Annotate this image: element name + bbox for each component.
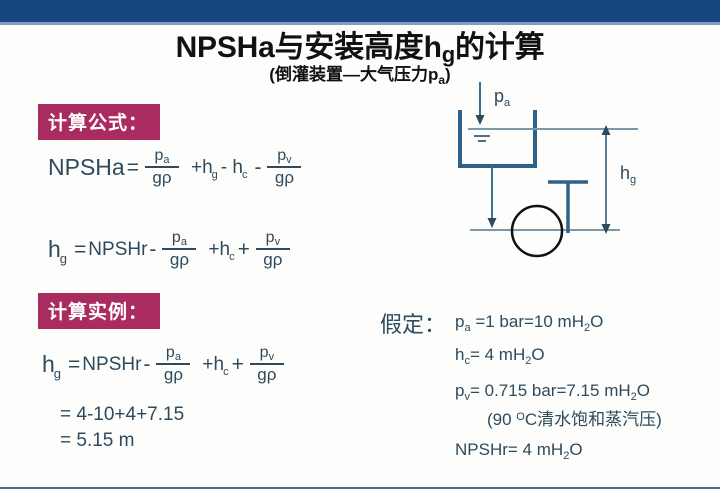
assumption-pa-tail: O: [590, 312, 603, 331]
assumption-pv-note: (90 OC清水饱和蒸汽压): [487, 405, 662, 430]
fraction-pv-over-grho: pv gρ: [250, 345, 284, 384]
term-plus-subscript: c: [229, 251, 235, 263]
fraction-denominator: gρ: [146, 168, 177, 187]
section-banner-example: 计算实例：: [38, 293, 160, 329]
numerator-subscript: a: [181, 236, 187, 248]
assumption-npshr-water-subscript: 2: [563, 450, 569, 462]
assumption-pv: pv= 0.715 bar=7.15 mH2O: [455, 381, 650, 401]
fraction-pa-over-grho: pa gρ: [162, 230, 196, 269]
term-minus-subscript: c: [242, 169, 248, 181]
assumption-pv-water-subscript: 2: [631, 391, 637, 403]
numerator-subscript: a: [175, 351, 181, 363]
term-plus-h: +h: [202, 354, 224, 375]
assumption-pv-value: = 0.715 bar=7.15 mH: [470, 381, 631, 400]
numerator-subscript: v: [275, 236, 281, 248]
formula-hg-lhs-subscript: g: [60, 251, 67, 266]
formula-npsha-minus-op: -: [252, 157, 263, 178]
diagram-label-pa-symbol: p: [494, 86, 504, 106]
numerator-symbol: p: [260, 344, 269, 361]
assumption-hc-water-subscript: 2: [525, 355, 531, 367]
discharge-pipe: [548, 182, 588, 233]
formula-npsha-lhs: NPSHa: [48, 156, 125, 179]
assumption-pv-subscript: v: [464, 391, 470, 403]
numerator-symbol: p: [277, 147, 286, 164]
fraction-pa-over-grho: pa gρ: [145, 148, 179, 187]
assumption-npshr-tail: O: [569, 440, 582, 459]
formula-hg-lhs: hg: [48, 238, 68, 261]
fraction-numerator: pv: [271, 148, 297, 166]
fraction-denominator: gρ: [257, 250, 288, 269]
formula-npsha-minus-hc: - hc: [221, 158, 249, 177]
assumption-pa-water-subscript: 2: [584, 322, 590, 334]
top-decorative-band: [0, 0, 720, 22]
diagram-label-pa: pa: [494, 86, 510, 107]
fraction-numerator: pv: [254, 345, 280, 363]
assumption-pa-value: =1 bar=10 mH: [471, 312, 584, 331]
formula-hg-lhs-symbol: h: [48, 236, 61, 262]
assumption-pv-tail: O: [637, 381, 650, 400]
formula-npsha-equals: =: [125, 157, 141, 178]
fraction-denominator: gρ: [158, 365, 189, 384]
term-plus-subscript: c: [223, 366, 229, 378]
assumption-hc: hc= 4 mH2O: [455, 345, 545, 365]
formula-hg-example-equals: =: [66, 354, 82, 375]
fraction-denominator: gρ: [164, 250, 195, 269]
numerator-symbol: p: [172, 229, 181, 246]
assumption-pa: pa =1 bar=10 mH2O: [455, 312, 603, 332]
bottom-rule-line: [0, 487, 720, 489]
hg-dimension-line: [602, 125, 611, 234]
assumption-pv-note-text: C清水饱和蒸汽压): [525, 410, 662, 429]
diagram-label-pa-subscript: a: [504, 97, 510, 109]
fraction-denominator: gρ: [269, 168, 300, 187]
term-minus-h: - h: [221, 157, 243, 178]
atmospheric-pressure-arrow: [476, 82, 485, 125]
numerator-subscript: a: [163, 154, 169, 166]
result-line-expression: = 4-10+4+7.15: [60, 404, 184, 426]
formula-npsha-plus-hg: +hg: [191, 158, 219, 177]
formula-hg-plus-op: +: [236, 239, 252, 260]
result-line-value: = 5.15 m: [60, 430, 134, 452]
tank-vessel: [460, 112, 535, 166]
assumptions-label: 假定：: [380, 307, 446, 339]
assumption-pv-note-open: (90: [487, 410, 516, 429]
formula-hg-npshr: NPSHr: [88, 240, 147, 259]
term-plus-subscript: g: [212, 169, 218, 181]
assumption-npshr-value: = 4 mH: [508, 440, 563, 459]
formula-hg-example: hg = NPSHr - pa gρ +hc + pv gρ: [42, 345, 288, 384]
fraction-numerator: pa: [166, 230, 193, 248]
term-plus-h: +h: [191, 157, 213, 178]
suction-pipe: [488, 166, 497, 228]
formula-hg-minus-op: -: [147, 239, 158, 260]
pump-system-diagram: pa hg: [420, 78, 720, 278]
fraction-pv-over-grho: pv gρ: [256, 230, 290, 269]
assumption-hc-subscript: c: [464, 355, 470, 367]
diagram-label-hg-subscript: g: [630, 174, 636, 186]
pump-system-svg: [420, 78, 720, 278]
fraction-numerator: pa: [148, 148, 175, 166]
fraction-numerator: pa: [160, 345, 187, 363]
term-plus-h: +h: [208, 239, 230, 260]
formula-npsha: NPSHa = pa gρ +hg - hc - pv gρ: [48, 148, 305, 187]
formula-hg-example-lhs-subscript: g: [54, 366, 61, 381]
formula-hg-example-lhs-symbol: h: [42, 351, 55, 377]
assumption-npshr: NPSHr= 4 mH2O: [455, 440, 583, 460]
formula-hg-example-plus-op: +: [230, 354, 246, 375]
numerator-symbol: p: [266, 229, 275, 246]
assumption-npshr-symbol: NPSHr: [455, 440, 508, 459]
formula-hg-plus-hc: +hc: [208, 240, 235, 259]
numerator-subscript: v: [269, 351, 275, 363]
diagram-label-hg: hg: [620, 163, 636, 184]
assumption-hc-tail: O: [531, 345, 544, 364]
formula-hg-example-plus-hc: +hc: [202, 355, 229, 374]
fraction-denominator: gρ: [251, 365, 282, 384]
assumption-pv-note-degree: O: [516, 411, 525, 423]
formula-hg: hg = NPSHr - pa gρ +hc + pv gρ: [48, 230, 294, 269]
numerator-subscript: v: [286, 154, 292, 166]
section-banner-formula: 计算公式：: [38, 104, 160, 140]
formula-hg-example-minus-op: -: [141, 354, 152, 375]
diagram-label-hg-symbol: h: [620, 163, 630, 183]
free-surface-marker: [474, 136, 490, 141]
assumption-pa-subscript: a: [464, 322, 470, 334]
formula-hg-example-lhs: hg: [42, 353, 62, 376]
formula-hg-equals: =: [72, 239, 88, 260]
fraction-pa-over-grho: pa gρ: [156, 345, 190, 384]
formula-hg-example-npshr: NPSHr: [82, 355, 141, 374]
numerator-symbol: p: [166, 344, 175, 361]
slide-canvas: NPSHa与安装高度hg的计算 (倒灌装置—大气压力pa) 计算公式： NPSH…: [0, 0, 720, 492]
fraction-numerator: pv: [260, 230, 286, 248]
page-subtitle-main: (倒灌装置—大气压力p: [269, 65, 438, 84]
assumption-hc-value: = 4 mH: [470, 345, 525, 364]
fraction-pv-over-grho: pv gρ: [267, 148, 301, 187]
